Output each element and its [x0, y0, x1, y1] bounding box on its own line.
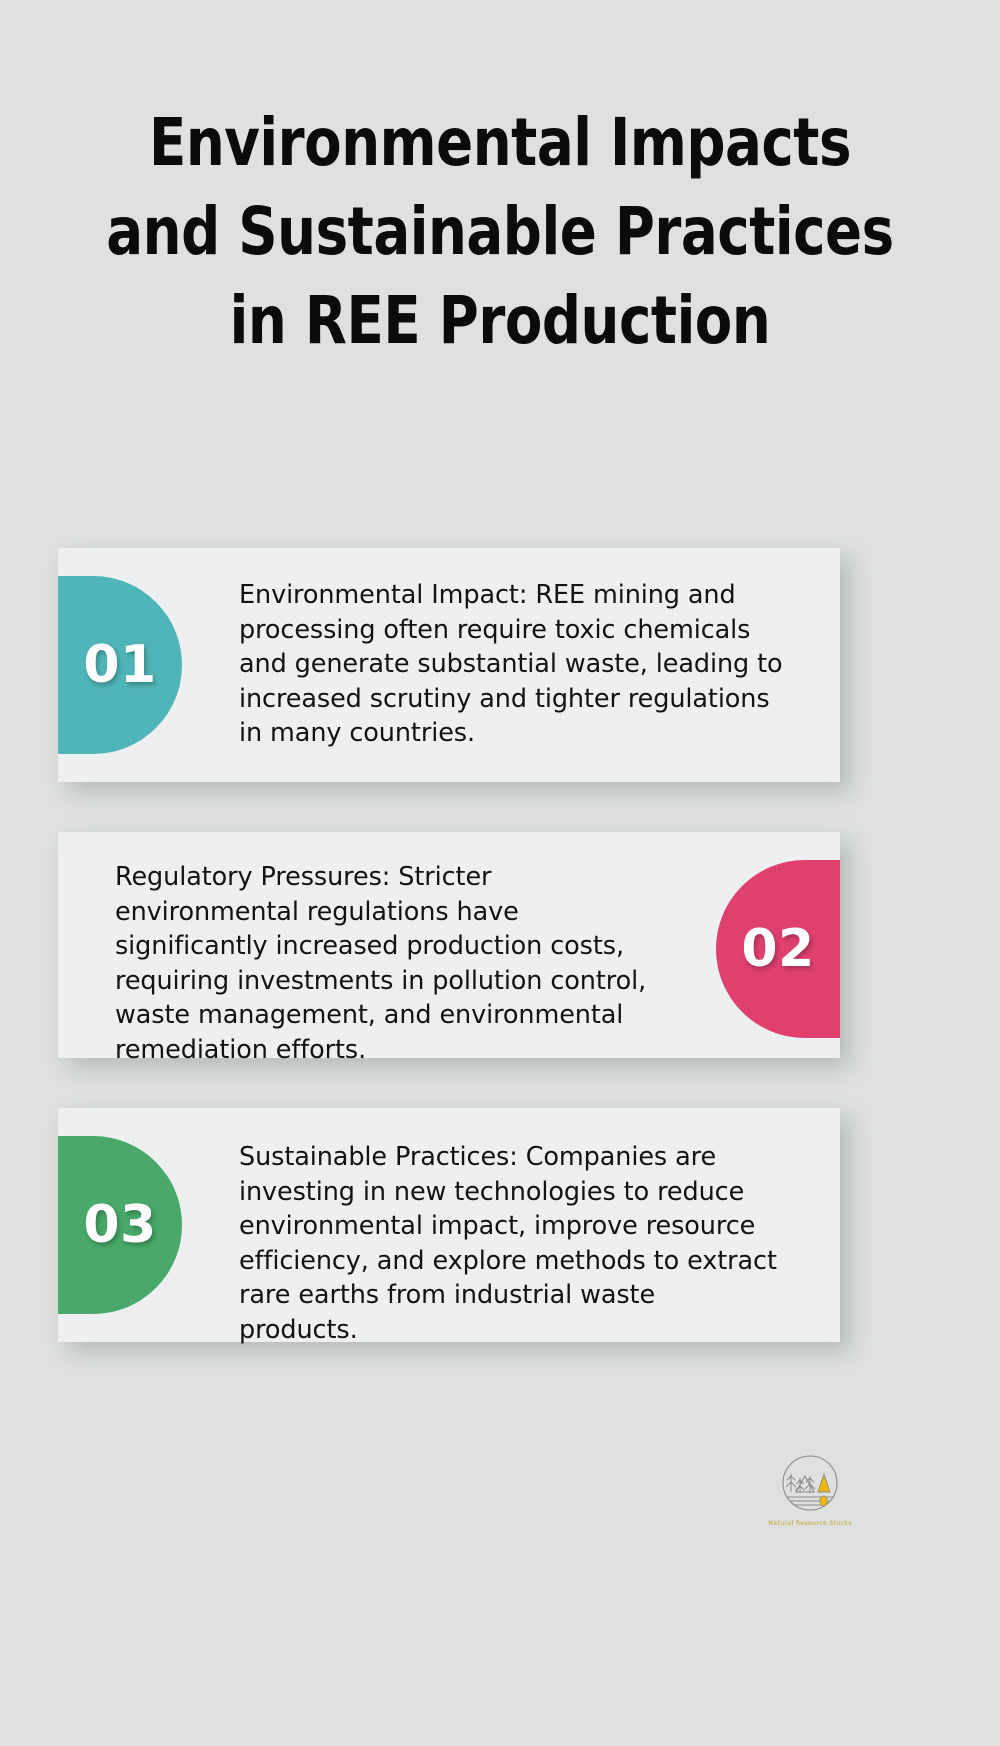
- card-number-badge-01: 01: [58, 576, 182, 754]
- card-item-02: 02 Regulatory Pressures: Stricter enviro…: [58, 832, 840, 1058]
- page-title-container: Environmental Impacts and Sustainable Pr…: [60, 98, 940, 365]
- brand-logo: Natural Resource Stocks: [766, 1452, 854, 1527]
- card-item-01: 01 Environmental Impact: REE mining and …: [58, 548, 840, 782]
- card-text-01: Environmental Impact: REE mining and pro…: [239, 578, 795, 751]
- card-text-02: Regulatory Pressures: Stricter environme…: [115, 860, 675, 1067]
- brand-logo-caption: Natural Resource Stocks: [766, 1520, 854, 1527]
- page-title: Environmental Impacts and Sustainable Pr…: [95, 98, 905, 365]
- infographic-page: Environmental Impacts and Sustainable Pr…: [0, 0, 1000, 1746]
- card-text-03: Sustainable Practices: Companies are inv…: [239, 1140, 779, 1347]
- card-list: 01 Environmental Impact: REE mining and …: [0, 548, 1000, 1342]
- card-number-badge-03: 03: [58, 1136, 182, 1314]
- forest-circle-logo-icon: [766, 1452, 854, 1518]
- card-number-badge-02: 02: [716, 860, 840, 1038]
- card-item-03: 03 Sustainable Practices: Companies are …: [58, 1108, 840, 1342]
